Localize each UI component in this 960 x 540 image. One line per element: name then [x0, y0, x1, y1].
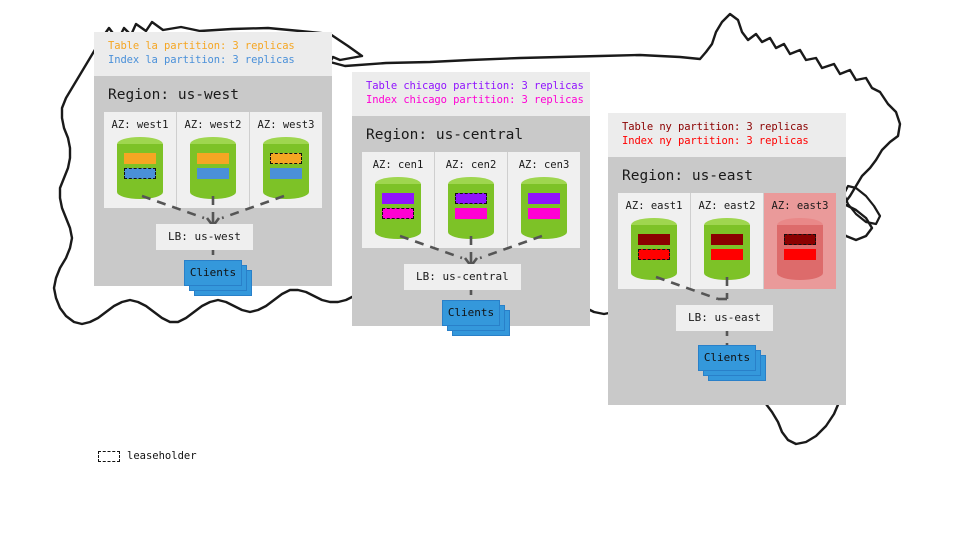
az-west1[interactable]: AZ: west1	[104, 112, 177, 208]
clients-label: Clients	[442, 300, 500, 326]
replica-table-ny	[711, 234, 743, 245]
replica-index-chicago	[528, 208, 560, 219]
replica-index-ny	[711, 249, 743, 260]
node-east2[interactable]	[704, 218, 750, 280]
az-west2-label: AZ: west2	[185, 119, 242, 131]
az-east1-label: AZ: east1	[626, 200, 683, 212]
az-row-us-central: AZ: cen1 AZ: cen2	[362, 152, 580, 248]
replica-index-la	[197, 168, 229, 179]
clients-us-west[interactable]: Clients	[184, 260, 242, 286]
region-us-east-header: Table ny partition: 3 replicas Index ny …	[608, 113, 846, 157]
region-us-east: Table ny partition: 3 replicas Index ny …	[608, 113, 846, 405]
lb-us-west[interactable]: LB: us-west	[156, 224, 253, 250]
az-east2-label: AZ: east2	[699, 200, 756, 212]
az-east1[interactable]: AZ: east1	[618, 193, 691, 289]
replica-index-chicago	[455, 208, 487, 219]
replica-index-ny	[784, 249, 816, 260]
region-us-west-body: Region: us-west AZ: west1 AZ: west2	[94, 76, 332, 286]
replica-table-chicago	[528, 193, 560, 204]
clients-us-east[interactable]: Clients	[698, 345, 756, 371]
node-cen1[interactable]	[375, 177, 421, 239]
diagram-canvas: Table la partition: 3 replicas Index la …	[0, 0, 960, 540]
table-partition-line: Table ny partition: 3 replicas	[622, 120, 832, 134]
node-west3[interactable]	[263, 137, 309, 199]
az-cen2-label: AZ: cen2	[446, 159, 497, 171]
replica-index-ny-leaseholder	[638, 249, 670, 260]
clients-us-central[interactable]: Clients	[442, 300, 500, 326]
region-us-central: Table chicago partition: 3 replicas Inde…	[352, 72, 590, 326]
node-east1[interactable]	[631, 218, 677, 280]
region-us-central-body: Region: us-central AZ: cen1 AZ: cen2	[352, 116, 590, 326]
az-cen3[interactable]: AZ: cen3	[508, 152, 580, 248]
replica-table-la	[124, 153, 156, 164]
clients-label: Clients	[698, 345, 756, 371]
table-partition-line: Table chicago partition: 3 replicas	[366, 79, 576, 93]
az-row-us-west: AZ: west1 AZ: west2	[104, 112, 322, 208]
region-us-west-title: Region: us-west	[94, 76, 332, 112]
replica-table-ny-leaseholder	[784, 234, 816, 245]
legend-label: leaseholder	[127, 450, 197, 462]
leaseholder-swatch-icon	[98, 451, 120, 462]
replica-index-la-leaseholder	[124, 168, 156, 179]
replica-table-ny	[638, 234, 670, 245]
replica-index-la	[270, 168, 302, 179]
az-east3-label: AZ: east3	[772, 200, 829, 212]
replica-table-la	[197, 153, 229, 164]
table-partition-line: Table la partition: 3 replicas	[108, 39, 318, 53]
clients-us-east-wrap: Clients	[698, 345, 756, 371]
replica-table-chicago-leaseholder	[455, 193, 487, 204]
replica-table-chicago	[382, 193, 414, 204]
node-west1[interactable]	[117, 137, 163, 199]
region-us-west: Table la partition: 3 replicas Index la …	[94, 32, 332, 286]
legend-leaseholder: leaseholder	[98, 450, 197, 462]
index-partition-line: Index ny partition: 3 replicas	[622, 134, 832, 148]
lb-us-east[interactable]: LB: us-east	[676, 305, 773, 331]
az-west3-label: AZ: west3	[258, 119, 315, 131]
index-partition-line: Index chicago partition: 3 replicas	[366, 93, 576, 107]
region-us-central-title: Region: us-central	[352, 116, 590, 152]
az-cen1[interactable]: AZ: cen1	[362, 152, 435, 248]
az-west1-label: AZ: west1	[112, 119, 169, 131]
clients-us-central-wrap: Clients	[442, 300, 500, 326]
replica-index-chicago-leaseholder	[382, 208, 414, 219]
az-west3[interactable]: AZ: west3	[250, 112, 322, 208]
region-us-east-title: Region: us-east	[608, 157, 846, 193]
index-partition-line: Index la partition: 3 replicas	[108, 53, 318, 67]
node-cen2[interactable]	[448, 177, 494, 239]
clients-us-west-wrap: Clients	[184, 260, 242, 286]
clients-label: Clients	[184, 260, 242, 286]
replica-table-la-leaseholder	[270, 153, 302, 164]
node-west2[interactable]	[190, 137, 236, 199]
az-west2[interactable]: AZ: west2	[177, 112, 250, 208]
region-us-east-body: Region: us-east AZ: east1 AZ: east2	[608, 157, 846, 405]
region-us-central-header: Table chicago partition: 3 replicas Inde…	[352, 72, 590, 116]
az-cen1-label: AZ: cen1	[373, 159, 424, 171]
az-row-us-east: AZ: east1 AZ: east2	[618, 193, 836, 289]
lb-us-central[interactable]: LB: us-central	[404, 264, 521, 290]
node-cen3[interactable]	[521, 177, 567, 239]
region-us-west-header: Table la partition: 3 replicas Index la …	[94, 32, 332, 76]
node-east3-failed[interactable]	[777, 218, 823, 280]
az-cen3-label: AZ: cen3	[519, 159, 570, 171]
az-cen2[interactable]: AZ: cen2	[435, 152, 508, 248]
az-east2[interactable]: AZ: east2	[691, 193, 764, 289]
az-east3[interactable]: AZ: east3	[764, 193, 836, 289]
